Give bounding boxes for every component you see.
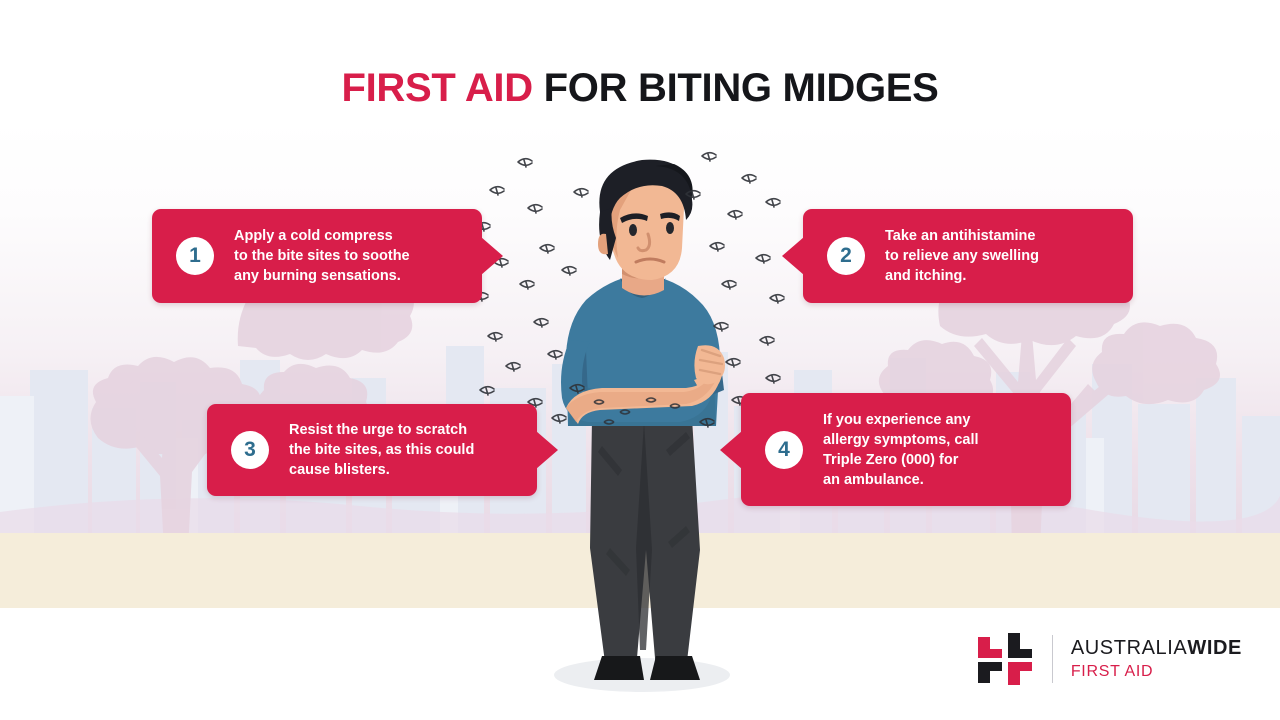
- callout-step-2[interactable]: 2 Take an antihistamine to relieve any s…: [803, 209, 1133, 303]
- title-rest: FOR BITING MIDGES: [533, 66, 939, 110]
- infographic-canvas: FIRST AID FOR BITING MIDGES: [0, 0, 1280, 720]
- callout-step-4[interactable]: 4 If you experience any allergy symptoms…: [741, 393, 1071, 506]
- brand-logo[interactable]: AUSTRALIAWIDE FIRST AID: [976, 630, 1242, 688]
- page-title: FIRST AID FOR BITING MIDGES: [0, 66, 1280, 111]
- callout-step-3[interactable]: 3 Resist the urge to scratch the bite si…: [207, 404, 537, 496]
- step-text-1: Apply a cold compress to the bite sites …: [234, 226, 410, 286]
- callout-step-1[interactable]: 1 Apply a cold compress to the bite site…: [152, 209, 482, 303]
- logo-wordmark: AUSTRALIAWIDE FIRST AID: [1071, 638, 1242, 680]
- australia-wide-cross-icon: [976, 631, 1034, 687]
- step-text-3: Resist the urge to scratch the bite site…: [289, 420, 474, 480]
- step-number-badge-3: 3: [231, 431, 269, 469]
- logo-line1-light: AUSTRALIA: [1071, 637, 1188, 659]
- step-text-4: If you experience any allergy symptoms, …: [823, 410, 979, 490]
- logo-line2: FIRST AID: [1071, 664, 1242, 680]
- step-number-badge-4: 4: [765, 431, 803, 469]
- callout-pointer-1: [481, 237, 503, 275]
- step-text-2: Take an antihistamine to relieve any swe…: [885, 226, 1039, 286]
- title-accent: FIRST AID: [341, 66, 532, 110]
- callout-pointer-3: [536, 431, 558, 469]
- callout-pointer-2: [782, 237, 804, 275]
- callout-pointer-4: [720, 431, 742, 469]
- step-number-badge-2: 2: [827, 237, 865, 275]
- logo-divider: [1052, 635, 1053, 683]
- step-number-badge-1: 1: [176, 237, 214, 275]
- head-and-face: [598, 160, 693, 296]
- trousers: [590, 418, 700, 670]
- logo-line1-bold: WIDE: [1187, 637, 1242, 659]
